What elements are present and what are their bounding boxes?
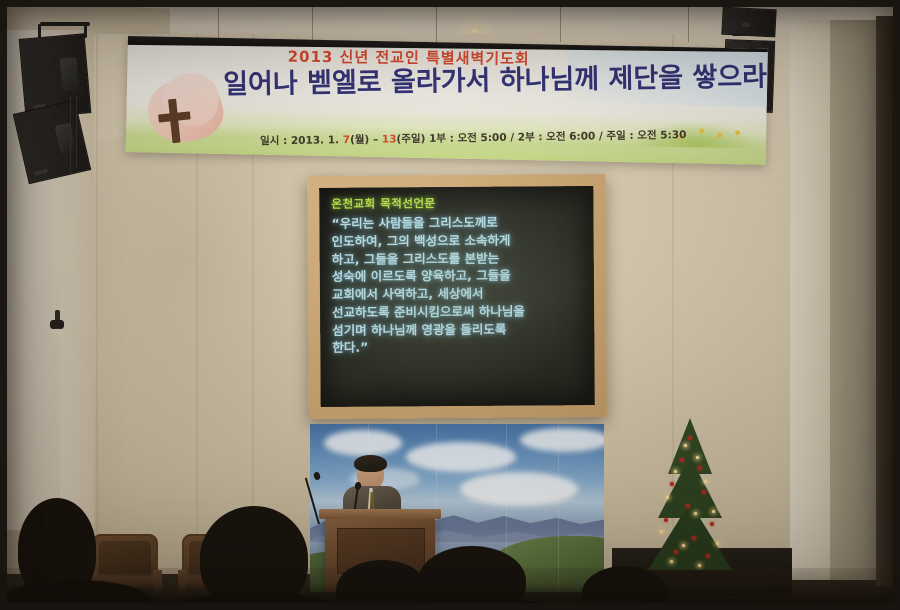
- screen-line: 성숙에 이르도록 양육하고, 그들을: [332, 266, 585, 286]
- event-banner: 2013 신년 전교인 특별새벽기도회 일어나 벧엘로 올라가서 하나님께 제단…: [126, 36, 768, 165]
- speaker-cable: [70, 96, 71, 174]
- screen-line: “우리는 사람들을 그리스도께로: [331, 213, 584, 233]
- podium-top: [319, 509, 441, 519]
- christmas-tree: [640, 418, 740, 590]
- projection-screen-frame: 온천교회 목적선언문 “우리는 사람들을 그리스도께로 인도하여, 그의 백성으…: [307, 174, 607, 419]
- schedule-day-end: 13: [382, 133, 397, 145]
- right-wall-panel: [790, 20, 832, 580]
- sanctuary-scene: 2013 신년 전교인 특별새벽기도회 일어나 벧엘로 올라가서 하나님께 제단…: [0, 0, 900, 610]
- screen-line: 선교하도록 준비시킴으로써 하나님을: [332, 302, 585, 322]
- glasses-icon: [359, 469, 382, 475]
- church-service-photograph: 2013 신년 전교인 특별새벽기도회 일어나 벧엘로 올라가서 하나님께 제단…: [0, 0, 900, 610]
- screen-title: 온천교회 목적선언문: [331, 194, 584, 212]
- screen-line: 교회에서 사역하고, 세상에서: [332, 284, 585, 304]
- banner-main-verse: 일어나 벧엘로 올라가서 하나님께 제단을 쌓으라(창35:1): [223, 63, 768, 98]
- screen-line: 하고, 그들을 그리스도를 본받는: [332, 249, 585, 269]
- speaker-cable: [76, 96, 77, 168]
- screen-line: 한다.”: [332, 337, 585, 357]
- right-wall-recess: [876, 16, 894, 586]
- right-wall-column: [830, 20, 880, 580]
- praying-hands-cross-icon: [140, 68, 234, 150]
- foreground-shadow: [0, 584, 900, 610]
- schedule-day-mid: (월) –: [350, 134, 382, 146]
- screen-line: 인도하여, 그의 백성으로 소속하게: [332, 231, 585, 251]
- schedule-prefix: 일시 : 2013. 1.: [260, 134, 343, 147]
- wall-seam: [96, 34, 98, 574]
- wall-spot-light-icon: [48, 310, 66, 336]
- screen-line: 섬기며 하나님께 영광을 돌리도록: [332, 320, 585, 340]
- projection-screen-surface: 온천교회 목적선언문 “우리는 사람들을 그리스도께로 인도하여, 그의 백성으…: [319, 186, 595, 407]
